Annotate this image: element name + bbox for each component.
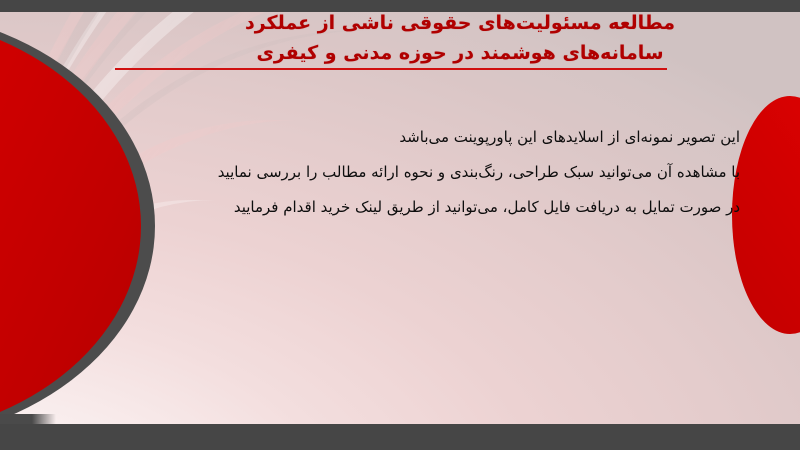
bottom-frame-band: [0, 424, 800, 450]
presentation-slide: مطالعه مسئولیت‌های حقوقی ناشی از عملکرد …: [0, 0, 800, 450]
left-red-curve-decoration: [0, 8, 170, 444]
slide-title: مطالعه مسئولیت‌های حقوقی ناشی از عملکرد …: [60, 8, 800, 68]
slide-title-line-1: مطالعه مسئولیت‌های حقوقی ناشی از عملکرد: [120, 8, 800, 38]
title-underline-rule: [115, 68, 667, 70]
body-text-line-1: این تصویر نمونه‌ای از اسلایدهای این پاور…: [160, 120, 740, 155]
slide-body: این تصویر نمونه‌ای از اسلایدهای این پاور…: [100, 120, 740, 225]
slide-title-line-2: سامانه‌های هوشمند در حوزه مدنی و کیفری: [120, 38, 800, 68]
body-text-line-3: در صورت تمایل به دریافت فایل کامل، می‌تو…: [160, 190, 740, 225]
body-text-line-2: با مشاهده آن می‌توانید سبک طراحی، رنگ‌بن…: [160, 155, 740, 190]
